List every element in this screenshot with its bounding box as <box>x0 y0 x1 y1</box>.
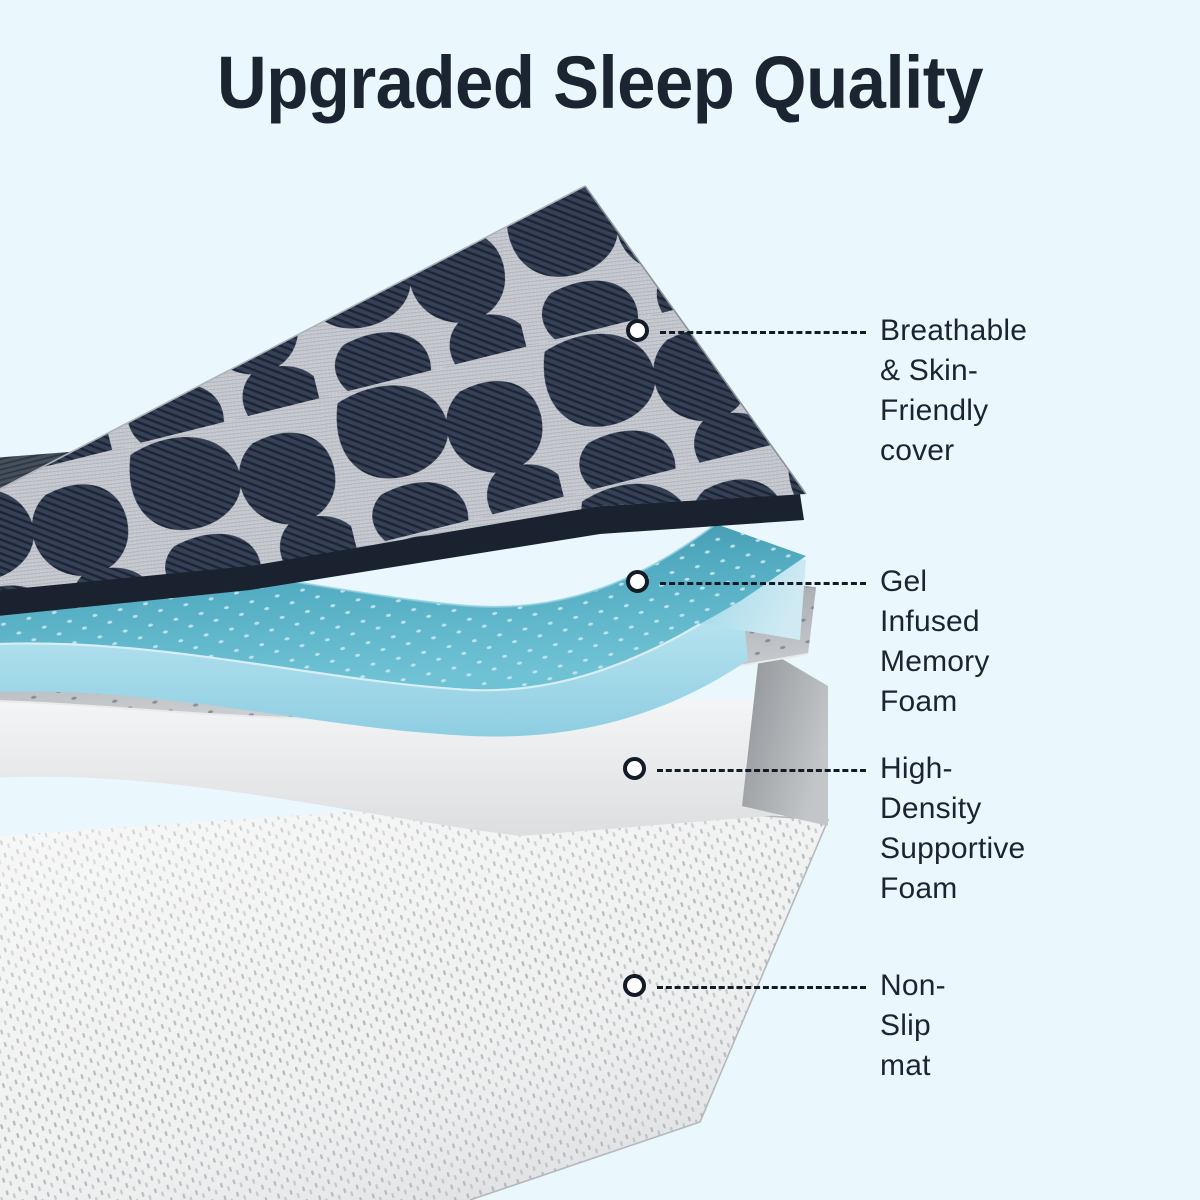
callout-label-gel-memory-foam: Gel Infused Memory Foam <box>880 562 990 722</box>
callout-marker-icon[interactable] <box>626 319 649 342</box>
callout-marker-icon[interactable] <box>626 570 649 593</box>
callout-leader-line <box>657 769 866 772</box>
callout-marker-icon[interactable] <box>623 757 646 780</box>
callout-leader-line <box>657 986 866 989</box>
callout-label-support-foam: High-Density Supportive Foam <box>880 749 1025 909</box>
callout-label-breathable-cover: Breathable & Skin- Friendly cover <box>880 311 1027 471</box>
callout-label-non-slip-mat: Non-Slip mat <box>880 966 946 1086</box>
mattress-layer-illustration <box>0 0 1200 1200</box>
callout-leader-line <box>660 331 866 334</box>
layer-non-slip-mat <box>0 800 828 1200</box>
callout-leader-line <box>660 582 866 585</box>
callout-marker-icon[interactable] <box>623 974 646 997</box>
infographic-canvas: Upgraded Sleep Quality <box>0 0 1200 1200</box>
